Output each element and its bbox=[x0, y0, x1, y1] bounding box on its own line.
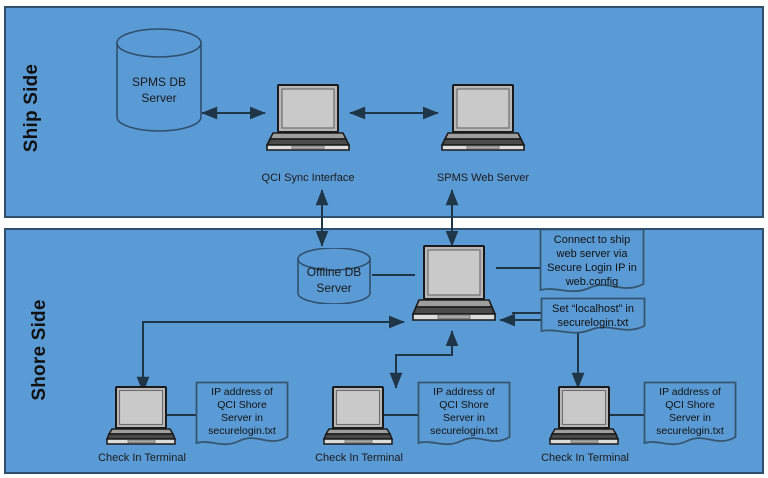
node-check-in-terminal-3 bbox=[548, 386, 620, 446]
node-qci-sync-interface bbox=[265, 84, 351, 152]
laptop-icon bbox=[322, 386, 394, 446]
node-offline-db-server: Offline DB Server bbox=[296, 248, 372, 304]
spms-web-server-label: SPMS Web Server bbox=[420, 172, 546, 185]
node-spms-web-server bbox=[440, 84, 526, 152]
node-check-in-terminal-2 bbox=[322, 386, 394, 446]
note-terminal-ip-3: IP address of QCI Shore Server in secure… bbox=[643, 381, 737, 449]
check-in-terminal-2-label: Check In Terminal bbox=[296, 452, 422, 465]
check-in-terminal-3-label: Check In Terminal bbox=[522, 452, 648, 465]
ship-side-label: Ship Side bbox=[20, 48, 44, 168]
note-set-localhost-text: Set “localhost” in securelogin.txt bbox=[540, 297, 646, 330]
offline-db-server-label-line1: Offline DB bbox=[307, 265, 361, 279]
note-terminal-ip-2: IP address of QCI Shore Server in secure… bbox=[417, 381, 511, 449]
laptop-icon bbox=[265, 84, 351, 152]
laptop-icon bbox=[411, 245, 497, 325]
shore-side-label: Shore Side bbox=[28, 285, 52, 415]
note-terminal-ip-2-text: IP address of QCI Shore Server in secure… bbox=[417, 381, 511, 438]
laptop-icon bbox=[440, 84, 526, 152]
laptop-icon bbox=[548, 386, 620, 446]
node-spms-db-server: SPMS DB Server bbox=[115, 28, 203, 132]
note-terminal-ip-1: IP address of QCI Shore Server in secure… bbox=[195, 381, 289, 449]
note-terminal-ip-3-text: IP address of QCI Shore Server in secure… bbox=[643, 381, 737, 438]
note-connect-ship-web-server-text: Connect to ship web server via Secure Lo… bbox=[539, 228, 645, 289]
node-check-in-terminal-1 bbox=[105, 386, 177, 446]
note-set-localhost: Set “localhost” in securelogin.txt bbox=[540, 297, 646, 337]
note-terminal-ip-1-text: IP address of QCI Shore Server in secure… bbox=[195, 381, 289, 438]
note-connect-ship-web-server: Connect to ship web server via Secure Lo… bbox=[539, 228, 645, 296]
laptop-icon bbox=[105, 386, 177, 446]
qci-sync-interface-label: QCI Sync Interface bbox=[245, 172, 371, 185]
node-qci-shore-server bbox=[411, 245, 497, 325]
spms-db-server-label-line2: Server bbox=[141, 91, 176, 105]
architecture-diagram: Ship Side Shore Side bbox=[0, 0, 768, 478]
spms-db-server-label-line1: SPMS DB bbox=[132, 75, 186, 89]
check-in-terminal-1-label: Check In Terminal bbox=[79, 452, 205, 465]
offline-db-server-label-line2: Server bbox=[316, 281, 351, 295]
